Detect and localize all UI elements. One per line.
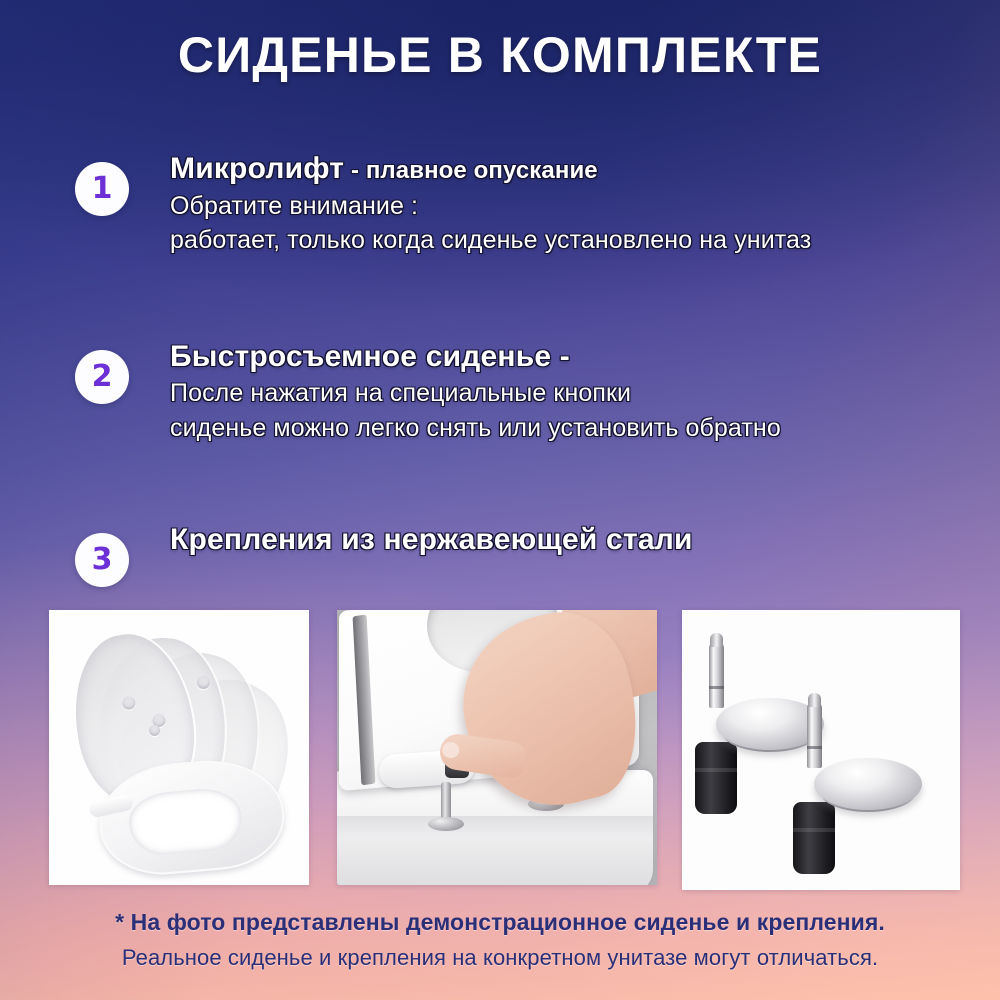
feature-item-1: 1 Микролифт - плавное опускание Обратите… [0,152,1000,258]
feature-line-1-2: работает, только когда сиденье установле… [170,223,811,258]
feature-text-1: Микролифт - плавное опускание Обратите в… [170,152,811,258]
photo-soft-close-seat [49,610,309,885]
photo-row [0,610,1000,892]
hand-release-illustration [337,610,657,885]
feature-heading-2: Быстросъемное сиденье - [170,340,781,374]
feature-heading-light-1: - плавное опускание [344,157,598,184]
feature-number-badge-1: 1 [75,162,129,216]
feature-text-2: Быстросъемное сиденье - После нажатия на… [170,340,781,446]
disclaimer-line-2: Реальное сиденье и крепления на конкретн… [0,944,1000,973]
feature-heading-3: Крепления из нержавеющей стали [170,523,693,557]
feature-heading-strong-1: Микролифт [170,152,344,185]
feature-list: 1 Микролифт - плавное опускание Обратите… [0,152,1000,583]
photo-steel-fixings [682,610,960,890]
photo-quick-release-button [337,610,657,885]
feature-line-1-1: Обратите внимание : [170,189,811,224]
feature-line-2-1: После нажатия на специальные кнопки [170,376,781,411]
fixings-illustration [682,610,960,890]
disclaimer: * На фото представлены демонстрационное … [0,908,1000,972]
poster-content: СИДЕНЬЕ В КОМПЛЕКТЕ 1 Микролифт - плавно… [0,0,1000,1000]
seat-motion-illustration [49,610,309,885]
feature-line-2-2: сиденье можно легко снять или установить… [170,411,781,446]
feature-text-3: Крепления из нержавеющей стали [170,523,693,560]
feature-heading-strong-2: Быстросъемное сиденье - [170,340,570,373]
feature-item-2: 2 Быстросъемное сиденье - После нажатия … [0,340,1000,446]
feature-number-badge-2: 2 [75,350,129,404]
feature-heading-1: Микролифт - плавное опускание [170,152,811,186]
promo-poster: СИДЕНЬЕ В КОМПЛЕКТЕ 1 Микролифт - плавно… [0,0,1000,1000]
disclaimer-line-1: * На фото представлены демонстрационное … [0,908,1000,938]
feature-item-3: 3 Крепления из нержавеющей стали [0,523,1000,583]
feature-heading-strong-3: Крепления из нержавеющей стали [170,523,693,556]
feature-number-badge-3: 3 [75,533,129,587]
page-title: СИДЕНЬЕ В КОМПЛЕКТЕ [0,27,1000,85]
